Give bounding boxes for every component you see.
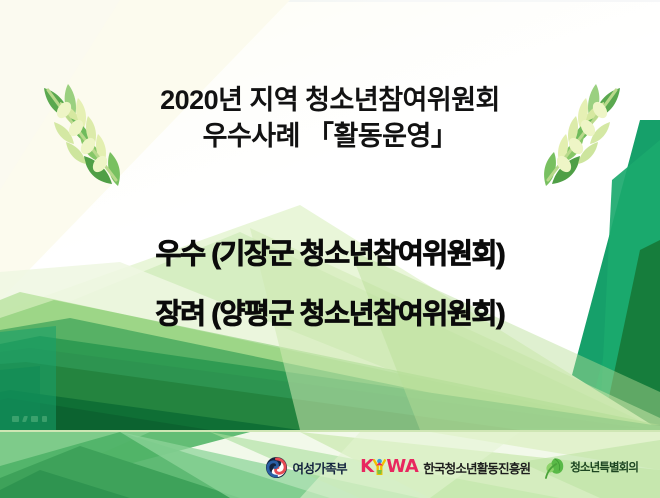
award-slide: 2020년 지역 청소년참여위원회 우수사례 「활동운영」 우수 (기장군 청소…	[0, 0, 660, 498]
slide-title: 2020년 지역 청소년참여위원회 우수사례 「활동운영」	[0, 82, 660, 154]
kywa-letter-y-icon	[373, 458, 386, 475]
award-line-excellence: 우수 (기장군 청소년참여위원회)	[0, 224, 660, 284]
award-list: 우수 (기장군 청소년참여위원회) 장려 (양평군 청소년참여위원회)	[0, 224, 660, 344]
kywa-wordmark-icon: K WA	[360, 458, 418, 476]
sprout-leaf-icon	[543, 455, 565, 479]
kywa-letter-w: W	[386, 456, 404, 477]
top-hairline	[0, 0, 660, 2]
kywa-letter-k: K	[360, 456, 373, 477]
taegeuk-icon	[265, 456, 288, 479]
logo-label-kywa: 한국청소년활동진흥원	[423, 458, 530, 477]
logo-label-youth-special-council: 청소년특별회의	[570, 459, 638, 475]
title-line-1: 2020년 지역 청소년참여위원회	[0, 82, 660, 118]
title-line-2: 우수사례 「활동운영」	[0, 118, 660, 154]
logo-youth-special-council: 청소년특별회의	[543, 454, 638, 480]
kywa-letter-a: A	[405, 456, 418, 477]
logo-mogef: 여성가족부	[265, 454, 348, 480]
logo-kywa: K WA 한국청소년활동진흥원	[360, 454, 530, 480]
award-line-encouragement: 장려 (양평군 청소년참여위원회)	[0, 284, 660, 344]
logo-label-mogef: 여성가족부	[293, 458, 348, 477]
corner-watermark	[12, 414, 66, 423]
footer-logo-row: 여성가족부 K WA 한국청소년활동진흥원 청소년특별회의	[0, 436, 660, 498]
